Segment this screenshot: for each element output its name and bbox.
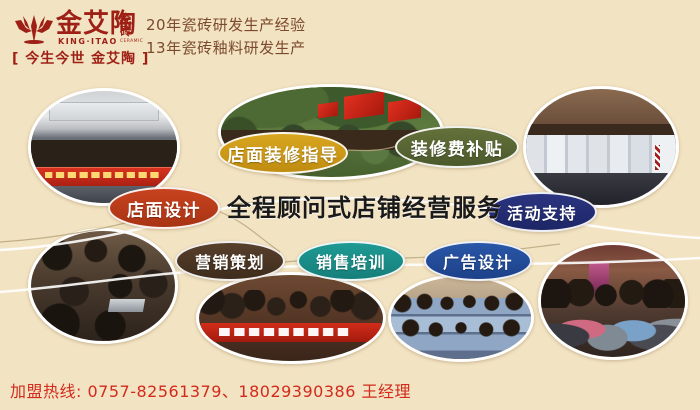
pill-marketing-planning[interactable]: 营销策划 bbox=[175, 241, 285, 281]
executives-group-photo bbox=[523, 86, 679, 208]
brand-slogan: [ 今生今世 金艾陶 ] bbox=[12, 48, 149, 68]
brand-logo[interactable]: 金艾陶 KING·ITAO 瓷砖 CERAMIC [ 今生今世 金艾陶 ] bbox=[8, 10, 143, 68]
banner-header: 金艾陶 KING·ITAO 瓷砖 CERAMIC [ 今生今世 金艾陶 ] 20… bbox=[0, 0, 700, 78]
brand-name-en: KING·ITAO bbox=[58, 37, 118, 46]
pill-store-decoration-guidance[interactable]: 店面装修指导 bbox=[218, 132, 348, 174]
pill-event-support[interactable]: 活动支持 bbox=[487, 192, 597, 232]
terminal-training-photo bbox=[196, 272, 386, 364]
header-taglines: 20年瓷砖研发生产经验 13年瓷砖釉料研发生产 bbox=[146, 14, 306, 60]
workshop-laptops-photo bbox=[28, 228, 178, 344]
uniform-team-photo bbox=[388, 274, 534, 362]
brand-suffix-cn: 瓷砖 bbox=[120, 12, 134, 38]
brand-suffix-en: CERAMIC bbox=[120, 39, 143, 44]
main-headline: 全程顾问式店铺经营服务 bbox=[227, 188, 502, 223]
pill-sales-training[interactable]: 销售培训 bbox=[297, 241, 405, 281]
promo-banner: 金艾陶 KING·ITAO 瓷砖 CERAMIC [ 今生今世 金艾陶 ] 20… bbox=[0, 0, 700, 410]
tagline-experience: 20年瓷砖研发生产经验 bbox=[146, 14, 306, 37]
tagline-glaze: 13年瓷砖釉料研发生产 bbox=[146, 37, 306, 60]
pill-advertising-design[interactable]: 广告设计 bbox=[424, 241, 532, 281]
crown-mountain-logo-icon bbox=[14, 14, 54, 44]
store-crowd-photo bbox=[538, 242, 688, 360]
pill-decoration-fee-subsidy[interactable]: 装修费补贴 bbox=[395, 126, 519, 168]
pill-store-design[interactable]: 店面设计 bbox=[108, 187, 220, 229]
franchise-hotline[interactable]: 加盟热线: 0757-82561379、18029390386 王经理 bbox=[10, 378, 411, 402]
